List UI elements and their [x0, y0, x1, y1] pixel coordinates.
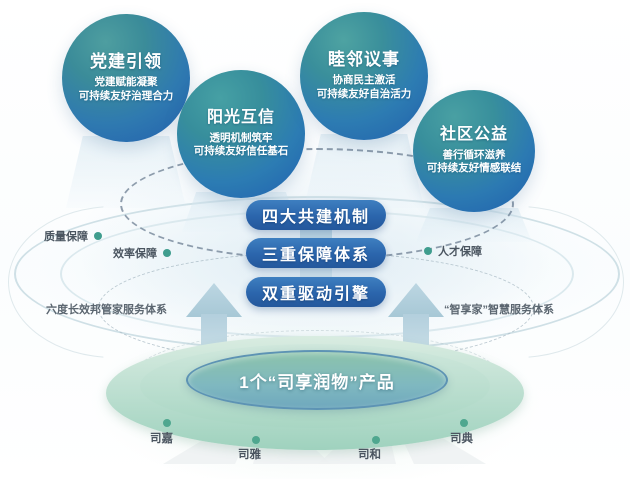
rim-dot-icon-3 — [372, 436, 380, 444]
circle-subtitle-line2: 可持续友好信任基石 — [194, 145, 289, 159]
guarantee-label-quality[interactable]: 质量保障 — [44, 228, 102, 244]
engine-label-smart-service[interactable]: “智享家”智慧服务体系 — [444, 301, 554, 317]
product-label: 1个“司享润物”产品 — [239, 368, 394, 393]
infographic-canvas: 1个“司享润物”产品 党建引领 党建赋能凝聚 可持续友好治理合力 阳光互信 透明… — [0, 0, 630, 479]
guarantee-label-text: 效率保障 — [113, 245, 157, 261]
bullet-dot-icon — [163, 249, 171, 257]
pill-label: 双重驱动引擎 — [262, 280, 370, 304]
mechanism-circle-sunshine-trust[interactable]: 阳光互信 透明机制筑牢 可持续友好信任基石 — [177, 70, 305, 198]
bullet-dot-icon — [94, 232, 102, 240]
circle-title: 睦邻议事 — [328, 51, 400, 70]
guarantee-label-talent[interactable]: 人才保障 — [424, 243, 482, 259]
product-item-sijia[interactable]: 司嘉 — [150, 430, 173, 446]
guarantee-label-text: 人才保障 — [438, 243, 482, 259]
circle-title: 社区公益 — [440, 126, 508, 144]
rim-dot-icon-2 — [252, 436, 260, 444]
circle-subtitle-line2: 可持续友好治理合力 — [79, 90, 174, 104]
mechanism-circle-neighbor-council[interactable]: 睦邻议事 协商民主激活 可持续友好自治活力 — [300, 12, 428, 140]
pill-four-mechanisms[interactable]: 四大共建机制 — [246, 200, 386, 230]
circle-subtitle-line1: 党建赋能凝聚 — [95, 76, 158, 90]
circle-subtitle-line2: 可持续友好自治活力 — [317, 88, 412, 102]
pill-three-guarantees[interactable]: 三重保障体系 — [246, 238, 386, 268]
circle-subtitle-line1: 善行循环滋养 — [443, 149, 506, 163]
circle-subtitle-line1: 协商民主激活 — [333, 74, 396, 88]
mechanism-circle-community-welfare[interactable]: 社区公益 善行循环滋养 可持续友好情感联结 — [413, 90, 535, 212]
circle-subtitle-line2: 可持续友好情感联结 — [427, 162, 522, 176]
circle-subtitle-line1: 透明机制筑牢 — [210, 132, 273, 146]
engine-label-butler-service[interactable]: 六度长效邦管家服务体系 — [46, 301, 167, 317]
product-item-sihe[interactable]: 司和 — [358, 446, 381, 462]
pill-dual-engine[interactable]: 双重驱动引擎 — [246, 277, 386, 307]
product-item-siya[interactable]: 司雅 — [238, 446, 261, 462]
pill-label: 三重保障体系 — [262, 241, 370, 265]
pill-label: 四大共建机制 — [262, 203, 370, 227]
arrow-head — [388, 283, 444, 317]
guarantee-label-text: 质量保障 — [44, 228, 88, 244]
guarantee-label-efficiency[interactable]: 效率保障 — [113, 245, 171, 261]
product-item-sidian[interactable]: 司典 — [450, 430, 473, 446]
arrow-head — [186, 283, 242, 317]
mechanism-circle-party-building[interactable]: 党建引领 党建赋能凝聚 可持续友好治理合力 — [62, 14, 190, 142]
bullet-dot-icon — [424, 247, 432, 255]
circle-title: 阳光互信 — [207, 109, 275, 127]
rim-dot-icon-1 — [163, 419, 171, 427]
product-pill[interactable]: 1个“司享润物”产品 — [186, 350, 448, 410]
rim-dot-icon-4 — [460, 419, 468, 427]
circle-title: 党建引领 — [90, 53, 162, 72]
